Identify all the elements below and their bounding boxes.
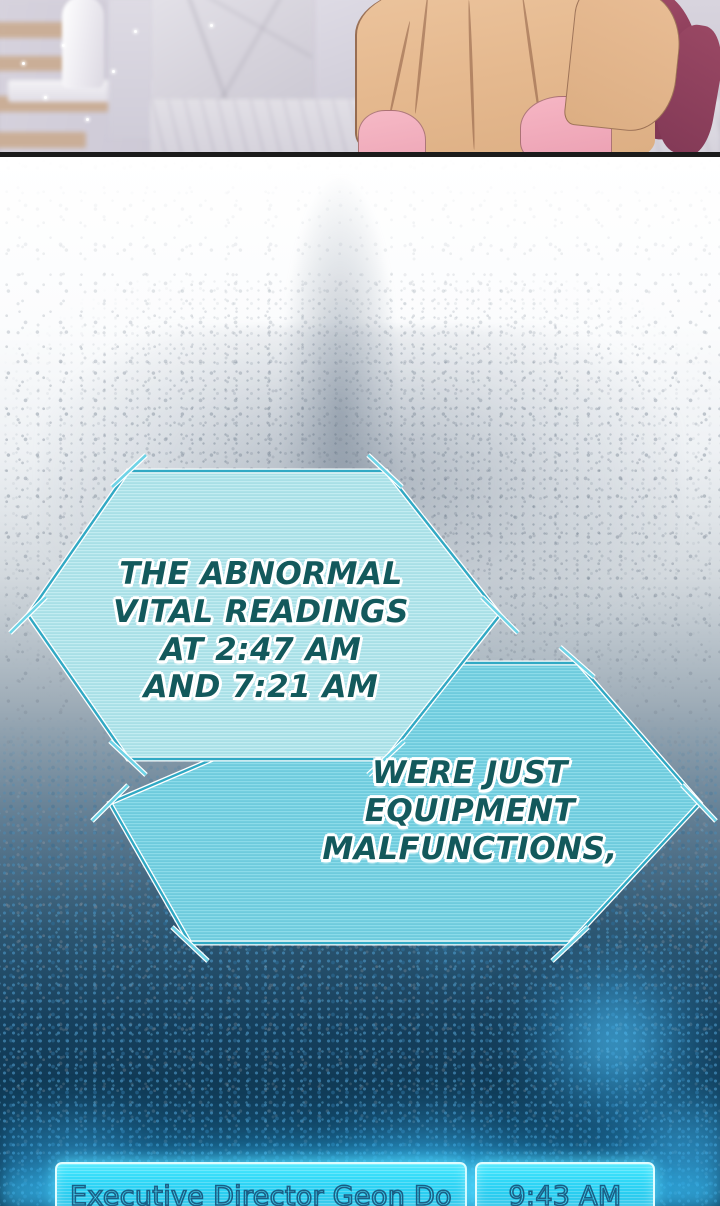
sparkle xyxy=(44,96,47,99)
speech-bubble-layer xyxy=(0,157,720,1206)
hud-row: Executive Director Geon Do 9:43 AM xyxy=(55,1162,655,1206)
panel-top-bathroom xyxy=(0,0,720,155)
sparkle xyxy=(22,62,25,65)
webtoon-page: THE ABNORMAL VITAL READINGS AT 2:47 AM A… xyxy=(0,0,720,1206)
sparkle xyxy=(134,30,137,33)
sparkle xyxy=(86,118,89,121)
message-hud-bar: Executive Director Geon Do 9:43 AM xyxy=(0,1148,720,1206)
hud-sender-cell[interactable]: Executive Director Geon Do xyxy=(55,1162,467,1206)
sparkle xyxy=(112,70,115,73)
panel-main-spray xyxy=(0,157,720,1206)
hud-sender-label: Executive Director Geon Do xyxy=(70,1181,452,1206)
hud-time-cell[interactable]: 9:43 AM xyxy=(475,1162,655,1206)
wall-frame xyxy=(108,0,154,138)
hud-time-label: 9:43 AM xyxy=(508,1181,621,1206)
speech-bubble-svg xyxy=(0,157,720,1206)
wood-slat xyxy=(0,132,86,148)
bottle xyxy=(62,0,104,88)
sparkle xyxy=(210,24,213,27)
sparkle xyxy=(62,44,65,47)
